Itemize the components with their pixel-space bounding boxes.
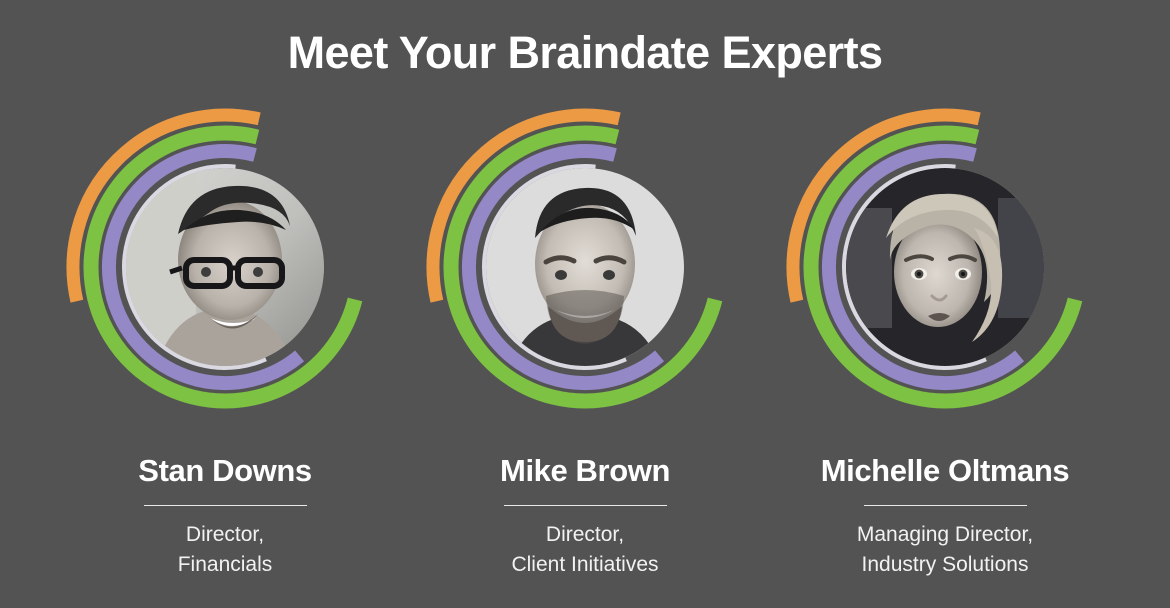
expert-role-line1: Director, [186, 520, 264, 550]
name-divider [504, 505, 667, 506]
expert-name: Mike Brown [500, 454, 670, 489]
expert-role-line1: Director, [546, 520, 624, 550]
avatar [486, 168, 684, 366]
portrait-photo-0 [126, 168, 324, 366]
expert-role-line2: Client Initiatives [511, 550, 658, 580]
expert-avatar-ring-2 [780, 102, 1110, 432]
expert-card-1[interactable]: Mike Brown Director, Client Initiatives [405, 104, 765, 608]
expert-panel-page: Meet Your Braindate Experts [0, 0, 1170, 608]
expert-name: Stan Downs [138, 454, 311, 489]
expert-card-0[interactable]: Stan Downs Director, Financials [45, 104, 405, 608]
avatar [846, 168, 1044, 366]
expert-card-2[interactable]: Michelle Oltmans Managing Director, Indu… [765, 104, 1125, 608]
expert-role-line2: Financials [178, 550, 273, 580]
avatar [126, 168, 324, 366]
experts-row: Stan Downs Director, Financials [0, 104, 1170, 608]
page-title: Meet Your Braindate Experts [0, 26, 1170, 79]
expert-avatar-ring-1 [420, 102, 750, 432]
expert-role-line2: Industry Solutions [862, 550, 1029, 580]
expert-role-line1: Managing Director, [857, 520, 1033, 550]
name-divider [144, 505, 307, 506]
name-divider [864, 505, 1027, 506]
portrait-photo-1 [486, 168, 684, 366]
portrait-photo-2 [846, 168, 1044, 366]
expert-avatar-ring-0 [60, 102, 390, 432]
expert-name: Michelle Oltmans [821, 454, 1070, 489]
